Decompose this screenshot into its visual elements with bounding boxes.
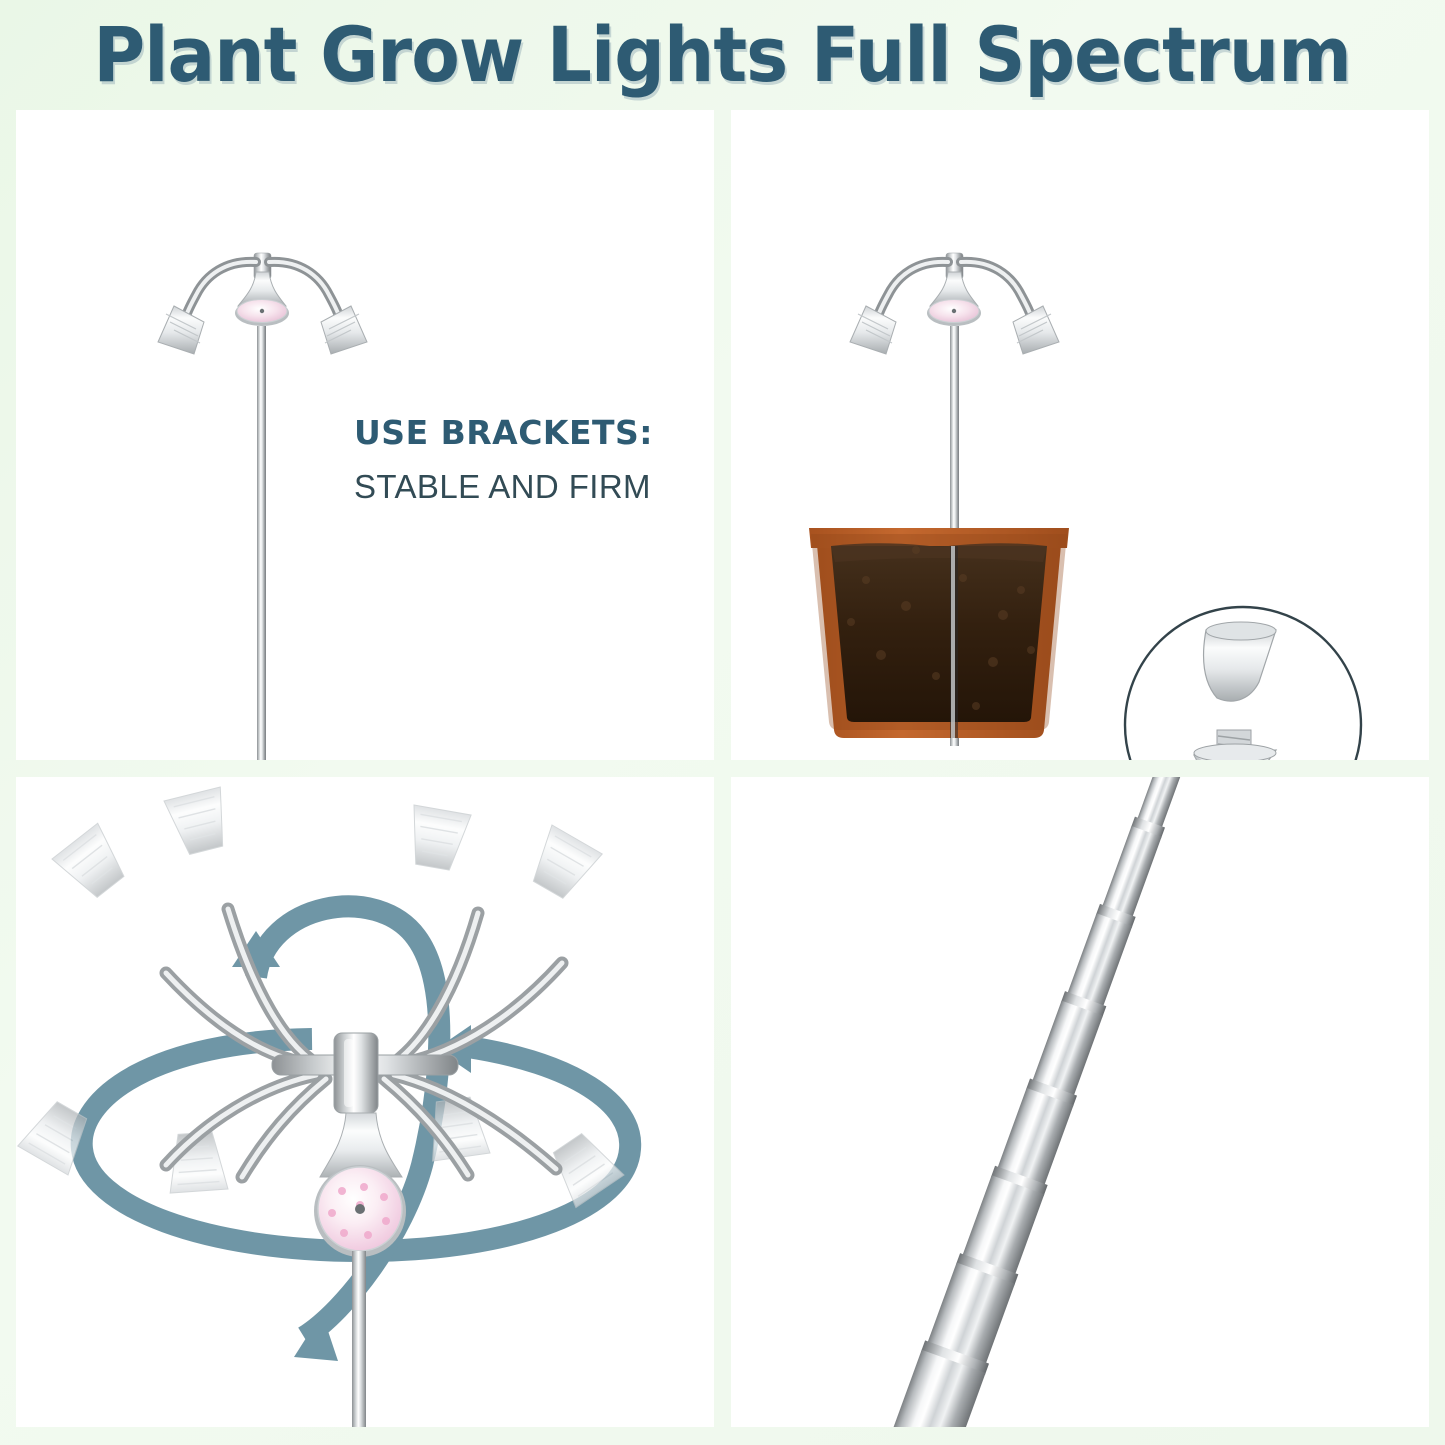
panel-grid: USE BRACKETS: STABLE AND FIRM bbox=[16, 110, 1428, 1427]
pot-lamp-illustration bbox=[731, 110, 1429, 760]
spike-inset bbox=[1125, 607, 1361, 760]
page-title: Plant Grow Lights Full Spectrum bbox=[94, 10, 1352, 99]
callout-use-brackets: USE BRACKETS: STABLE AND FIRM bbox=[354, 410, 653, 518]
rotation-illustration bbox=[16, 777, 714, 1427]
ghost-heads-upper bbox=[52, 787, 602, 905]
callout-body: STABLE AND FIRM bbox=[354, 456, 653, 518]
panel-rotation: 360° bbox=[16, 777, 714, 1427]
page-title-bar: Plant Grow Lights Full Spectrum bbox=[0, 0, 1445, 108]
panel-extendable: Extendable length bbox=[731, 777, 1429, 1427]
telescoping-pole-illustration bbox=[731, 777, 1429, 1427]
panel-use-brackets: USE BRACKETS: STABLE AND FIRM bbox=[16, 110, 714, 760]
callout-heading: USE BRACKETS: bbox=[354, 410, 653, 456]
pole-segments bbox=[874, 777, 1226, 1427]
infographic-page: Plant Grow Lights Full Spectrum bbox=[0, 0, 1445, 1445]
panel-remove-bracket: REMOVE THE BRACKET: CAN BE INSERTED INTO… bbox=[731, 110, 1429, 760]
